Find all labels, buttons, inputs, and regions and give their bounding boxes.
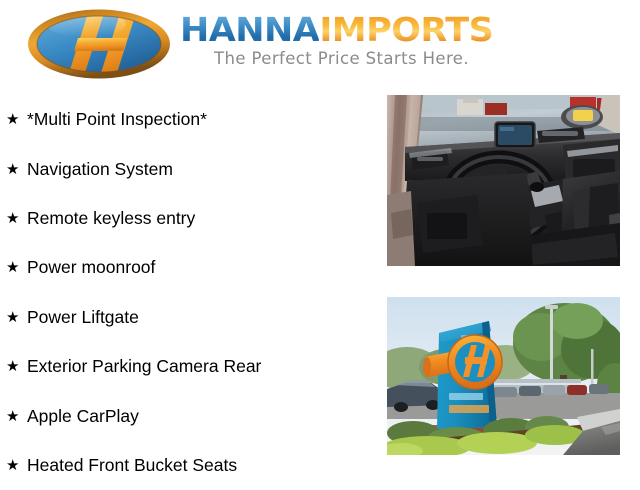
star-icon: ★: [6, 409, 27, 424]
star-icon: ★: [6, 112, 27, 127]
header-banner: HANNAIMPORTS The Perfect Price Starts He…: [0, 0, 640, 90]
vehicle-interior-photo[interactable]: [387, 95, 620, 266]
star-icon: ★: [6, 359, 27, 374]
star-icon: ★: [6, 162, 27, 177]
list-item: ★ Power Liftgate: [0, 293, 380, 342]
list-item: ★ Heated Front Bucket Seats: [0, 441, 380, 490]
star-icon: ★: [6, 458, 27, 473]
brand-name-hanna: HANNA: [180, 10, 319, 49]
brand-wordmark: HANNAIMPORTS The Perfect Price Starts He…: [180, 13, 476, 68]
list-item: ★ Remote keyless entry: [0, 194, 380, 243]
list-item: ★ Exterior Parking Camera Rear: [0, 342, 380, 391]
brand-logo: HANNAIMPORTS The Perfect Price Starts He…: [26, 8, 476, 80]
list-item: ★ Power moonroof: [0, 243, 380, 292]
feature-label: Exterior Parking Camera Rear: [27, 356, 261, 377]
feature-label: Remote keyless entry: [27, 208, 195, 229]
dealership-sign-photo[interactable]: [387, 297, 620, 455]
brand-name-imports: IMPORTS: [319, 10, 493, 49]
list-item: ★ *Multi Point Inspection*: [0, 95, 380, 144]
star-icon: ★: [6, 260, 27, 275]
brand-tagline: The Perfect Price Starts Here.: [214, 49, 476, 68]
hanna-oval-emblem-icon: [26, 8, 172, 80]
feature-label: Navigation System: [27, 159, 173, 180]
star-icon: ★: [6, 310, 27, 325]
list-item: ★ Apple CarPlay: [0, 391, 380, 440]
feature-label: Heated Front Bucket Seats: [27, 455, 237, 476]
feature-label: *Multi Point Inspection*: [27, 109, 207, 130]
feature-label: Power moonroof: [27, 257, 155, 278]
feature-label: Apple CarPlay: [27, 406, 139, 427]
star-icon: ★: [6, 211, 27, 226]
list-item: ★ Navigation System: [0, 144, 380, 193]
feature-label: Power Liftgate: [27, 307, 139, 328]
vehicle-features-list: ★ *Multi Point Inspection* ★ Navigation …: [0, 95, 380, 490]
